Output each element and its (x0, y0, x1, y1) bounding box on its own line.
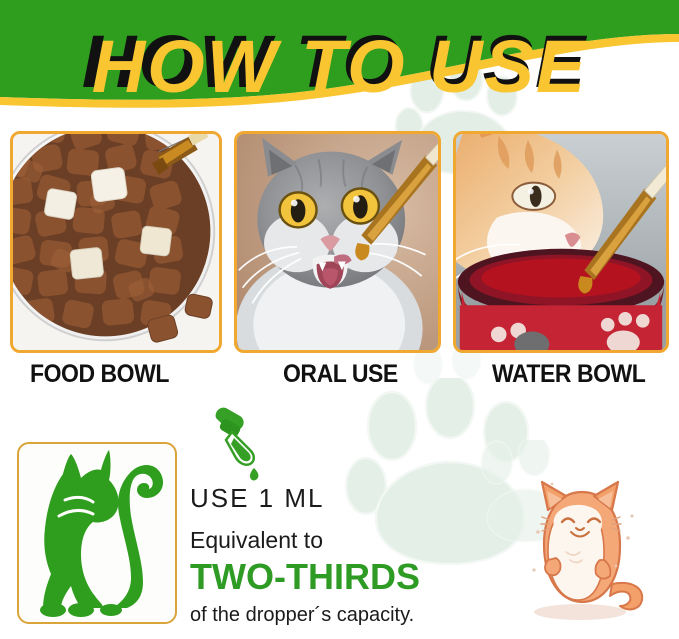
water-bowl-photo (456, 134, 666, 350)
cat-silhouette-icon (19, 444, 175, 622)
paw-print-watermark (392, 340, 512, 450)
how-to-use-infographic: HOW TO USE HOW TO USE (0, 0, 679, 639)
panel-water-bowl (453, 131, 669, 353)
usage-panels (0, 131, 679, 356)
page-title: HOW TO USE HOW TO USE (0, 28, 679, 106)
dose-line-use-1-ml: USE 1 ML (190, 483, 325, 514)
panel-label-food-bowl: FOOD BOWL (30, 360, 169, 389)
panel-oral-use (234, 131, 441, 353)
panel-food-bowl (10, 131, 222, 353)
dose-line-two-thirds: TWO-THIRDS (190, 556, 420, 598)
dropper-icon (206, 406, 268, 484)
panel-label-oral-use: ORAL USE (283, 360, 398, 389)
cat-silhouette-box (17, 442, 177, 624)
panel-label-water-bowl: WATER BOWL (492, 360, 645, 389)
page-title-text: HOW TO USE (0, 28, 679, 106)
oral-use-photo (237, 134, 438, 350)
cartoon-cat-illustration (508, 466, 658, 626)
food-bowl-photo (13, 134, 219, 350)
dose-line-equivalent: Equivalent to (190, 527, 323, 554)
dose-line-capacity: of the dropper´s capacity. (190, 604, 414, 627)
